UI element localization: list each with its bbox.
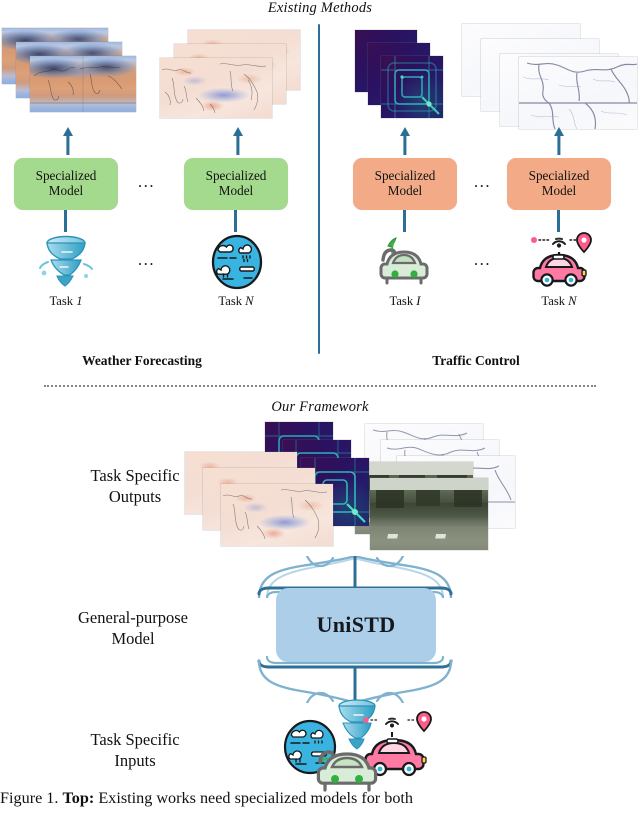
task-label-index: I [416, 294, 420, 308]
task-label-text: Task [49, 294, 76, 308]
arrow-taskn-model-weather [227, 127, 249, 155]
thumb-stack-global-temperature-map [2, 28, 142, 128]
caption-bold-lead: Top: [63, 789, 95, 807]
model-label-line1: General-purpose [38, 608, 228, 629]
weather-globe-icon [210, 232, 264, 290]
task-label-weather-1: Task 1 [14, 294, 118, 309]
thumb-stack-sst-anomaly-map [160, 30, 310, 130]
model-box-line1: Specialized [206, 169, 267, 184]
figure-1-diagram: Existing Methods [0, 0, 640, 814]
task-label-text: Task [390, 294, 417, 308]
arrow-taskn-model-traffic [548, 127, 570, 155]
unistd-model-name: UniSTD [317, 612, 396, 638]
specialized-model-box-weather-n[interactable]: Specialized Model [184, 158, 288, 210]
connector-taskn-icon-weather [234, 210, 237, 232]
inputs-label-line1: Task Specific [60, 730, 210, 751]
task-label-traffic-n: Task N [507, 294, 611, 309]
model-box-line2: Model [529, 184, 590, 199]
specialized-model-box-weather-1[interactable]: Specialized Model [14, 158, 118, 210]
connector-task1-icon [64, 210, 67, 232]
model-box-line2: Model [206, 184, 267, 199]
arrow-task1-model-traffic [394, 127, 416, 155]
section-separator [44, 385, 596, 387]
model-box-line1: Specialized [36, 169, 97, 184]
task-label-index: N [245, 294, 253, 308]
task-label-traffic-1: Task I [353, 294, 457, 309]
ellipsis-models-traffic: … [464, 172, 502, 192]
figure-caption: Figure 1. Top: Existing works need speci… [0, 788, 640, 808]
model-box-line2: Model [375, 184, 436, 199]
model-box-line2: Model [36, 184, 97, 199]
connected-car-icon [526, 228, 594, 290]
caption-prefix: Figure 1. [0, 789, 58, 807]
task-specific-outputs-thumbs [185, 422, 515, 562]
task-label-index: 1 [76, 294, 82, 308]
thumb-stack-traffic-flow-heatmap [355, 30, 475, 130]
ellipsis-tasks-traffic: … [464, 250, 502, 270]
general-purpose-model-label: General-purpose Model [38, 608, 228, 649]
domain-label-weather: Weather Forecasting [24, 353, 260, 369]
unistd-model-box[interactable]: UniSTD [276, 588, 436, 662]
our-framework-title: Our Framework [0, 399, 640, 416]
model-box-line1: Specialized [529, 169, 590, 184]
task-specific-inputs-icons [282, 694, 452, 798]
task-label-text: Task [541, 294, 568, 308]
ellipsis-tasks-weather: … [128, 250, 166, 270]
tornado-icon [38, 230, 94, 290]
thumb-stack-road-network-map [462, 24, 640, 134]
caption-body: Existing works need specialized models f… [98, 789, 413, 807]
ellipsis-models-weather: … [128, 172, 166, 192]
specialized-model-box-traffic-n[interactable]: Specialized Model [507, 158, 611, 210]
existing-methods-title: Existing Methods [0, 0, 640, 17]
task-specific-inputs-label: Task Specific Inputs [60, 730, 210, 771]
vertical-divider [318, 24, 320, 354]
task-label-weather-n: Task N [184, 294, 288, 309]
model-box-line1: Specialized [375, 169, 436, 184]
model-label-line2: Model [38, 629, 228, 650]
task-label-text: Task [218, 294, 245, 308]
eco-car-icon [374, 234, 434, 290]
domain-label-traffic: Traffic Control [358, 353, 594, 369]
arrow-task1-model [57, 127, 79, 155]
task-label-index: N [568, 294, 576, 308]
inputs-label-line2: Inputs [60, 751, 210, 772]
specialized-model-box-traffic-1[interactable]: Specialized Model [353, 158, 457, 210]
connector-task1-icon-traffic [403, 210, 406, 232]
